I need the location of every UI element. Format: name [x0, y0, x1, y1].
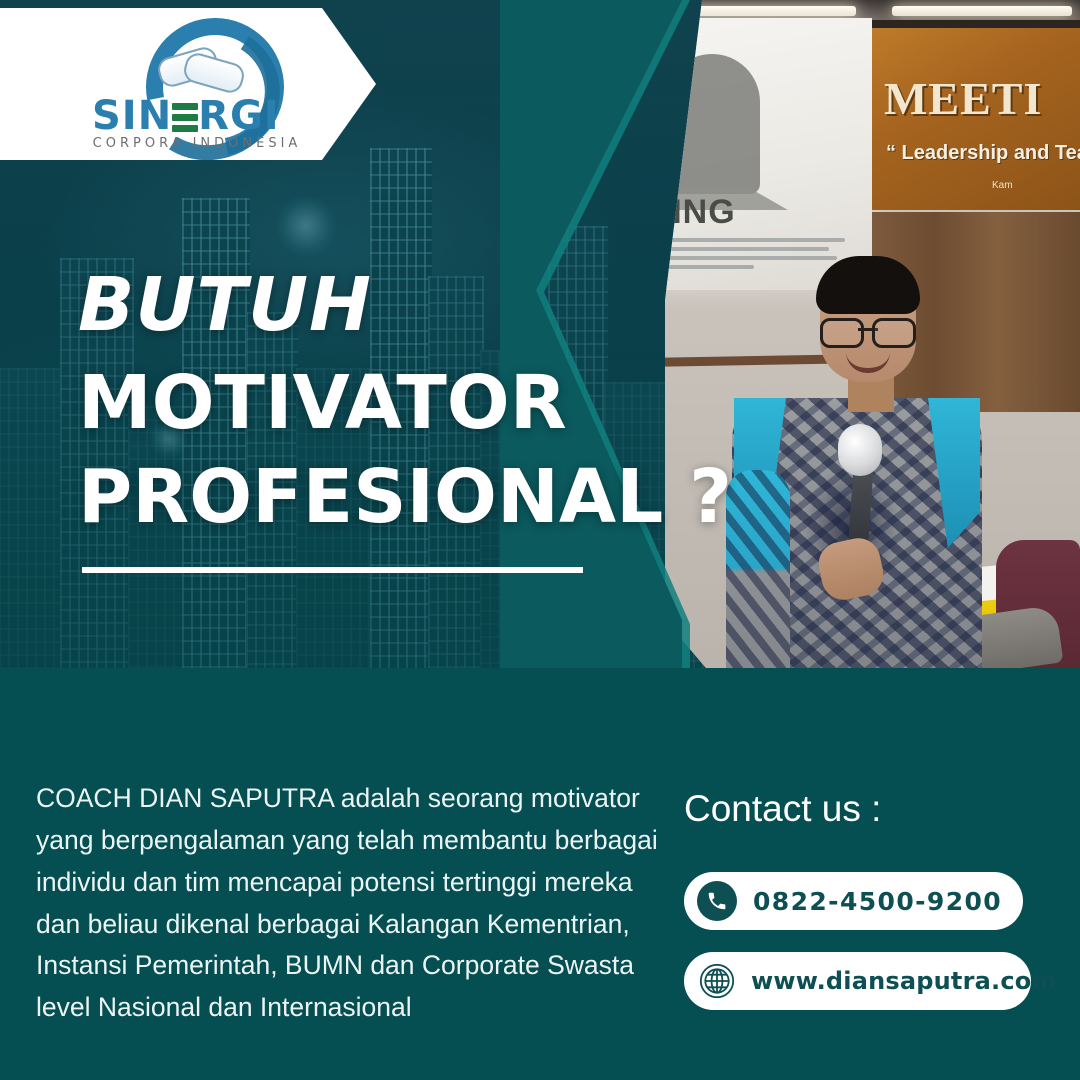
glasses-icon — [820, 318, 916, 342]
contact-heading: Contact us : — [684, 788, 881, 830]
building-bars-icon — [172, 101, 198, 135]
hero-section: OOMING MEETI “ Leadership and Tea Kam — [0, 0, 1080, 668]
logo-wordmark-part1: SIN — [92, 93, 172, 139]
phone-contact-pill[interactable]: 0822-4500-9200 — [684, 872, 1023, 930]
sinergi-logo: SINRGI CORPORA INDONESIA — [92, 16, 302, 152]
logo-wordmark-part2: RGI — [198, 93, 280, 139]
globe-icon — [697, 961, 737, 1001]
logo-wordmark: SINRGI — [92, 94, 302, 138]
headline-block: BUTUH MOTIVATOR PROFESIONAL ? — [78, 268, 678, 534]
headline-line-2: MOTIVATOR — [78, 366, 678, 440]
footer-section: COACH DIAN SAPUTRA adalah seorang motiva… — [0, 668, 1080, 1080]
handshake-icon — [158, 42, 244, 100]
banner-title: MEETI — [884, 72, 1042, 125]
website-url: www.diansaputra.com — [751, 967, 1057, 995]
phone-icon — [697, 881, 737, 921]
banner-footer: Kam — [992, 180, 1013, 191]
event-banner: MEETI “ Leadership and Tea Kam — [872, 20, 1080, 210]
banner-subtitle: “ Leadership and Tea — [886, 142, 1080, 165]
promotional-poster: OOMING MEETI “ Leadership and Tea Kam — [0, 0, 1080, 1080]
about-paragraph: COACH DIAN SAPUTRA adalah seorang motiva… — [36, 778, 676, 1029]
headline-line-3: PROFESIONAL ? — [78, 460, 678, 534]
website-contact-pill[interactable]: www.diansaputra.com — [684, 952, 1031, 1010]
logo-tagline: CORPORA INDONESIA — [92, 136, 302, 151]
phone-number: 0822-4500-9200 — [753, 887, 1002, 916]
headline-line-1: BUTUH — [78, 268, 678, 342]
microphone — [838, 424, 882, 476]
logo-banner: SINRGI CORPORA INDONESIA — [0, 8, 376, 160]
headline-divider-rule — [82, 567, 583, 573]
